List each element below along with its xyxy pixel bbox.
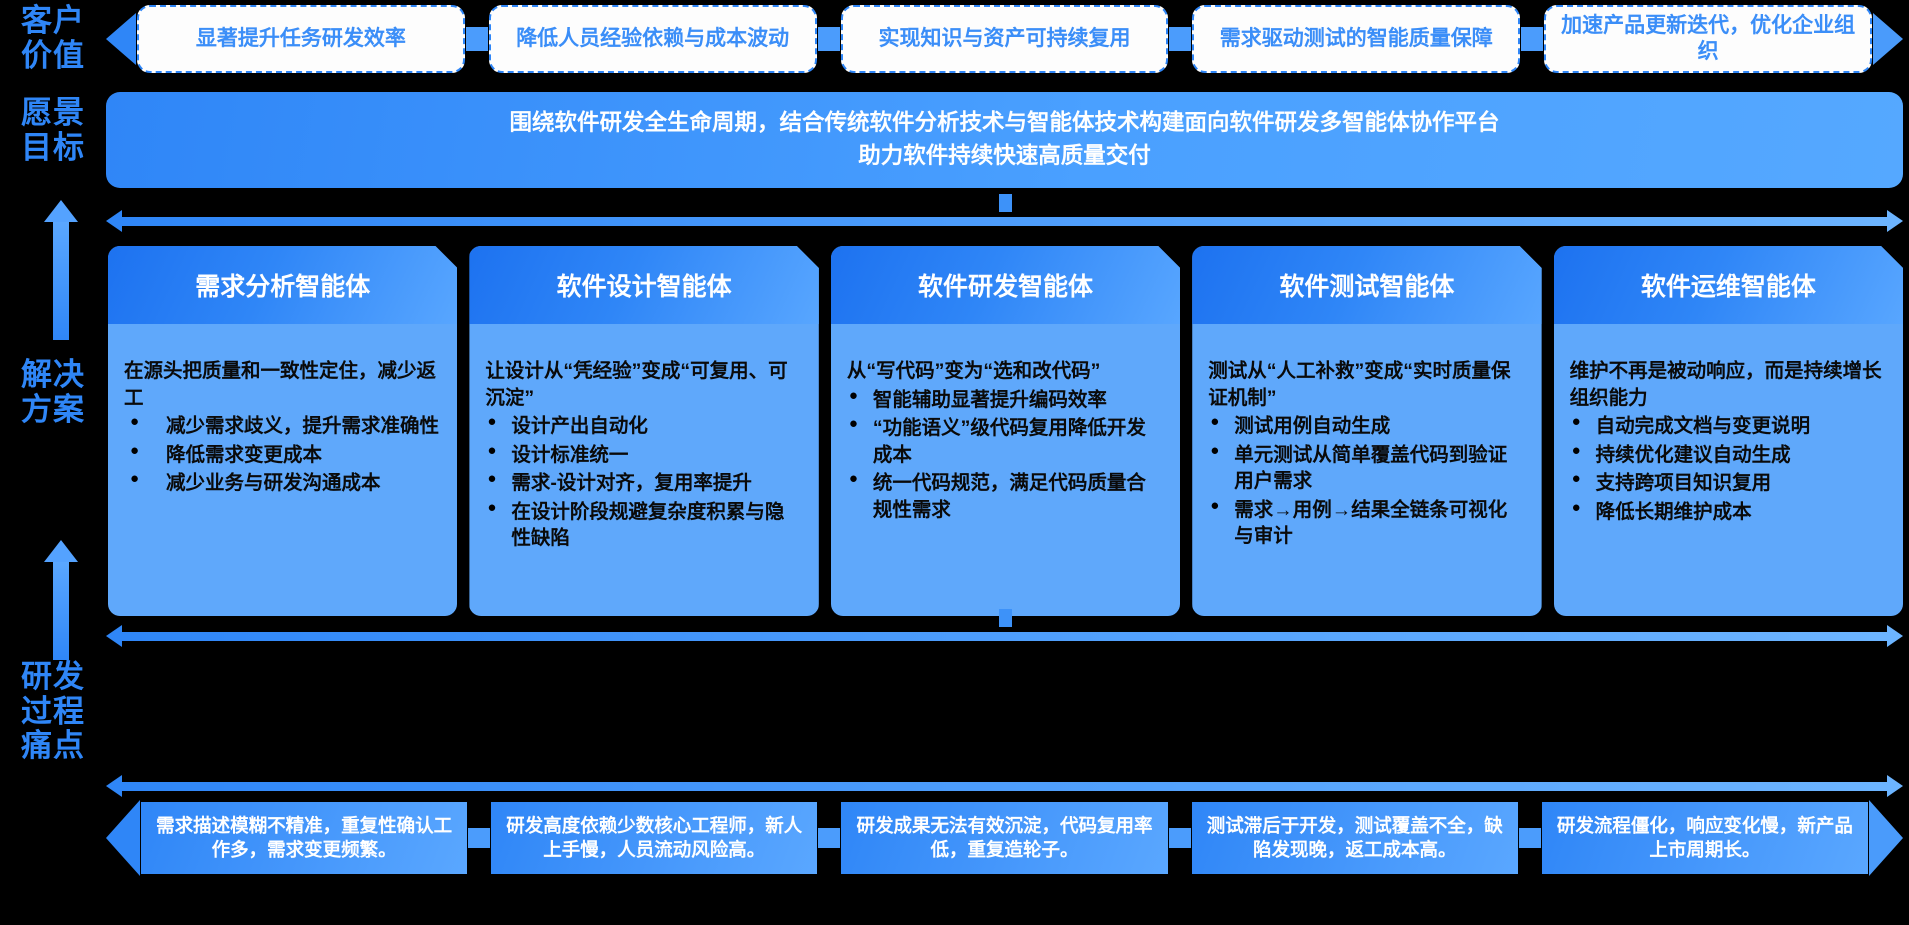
rail-label-pain-points: 研发过程痛点	[0, 660, 106, 764]
list-item: 智能辅助显著提升编码效率	[847, 387, 1164, 414]
list-item: 设计产出自动化	[485, 413, 802, 440]
diagram-canvas: 客户价值 愿景目标 解决方案 研发过程痛点 显著提升任务研发效率 降低人员经验依…	[0, 0, 1909, 925]
arrow-head-right-icon	[1887, 210, 1903, 232]
arrow-head-left-icon	[106, 775, 122, 797]
customer-value-box: 降低人员经验依赖与成本波动	[489, 5, 817, 73]
agent-card-body: 让设计从“凭经验”变成“可复用、可沉淀” 设计产出自动化 设计标准统一 需求-设…	[469, 324, 818, 616]
customer-value-box: 实现知识与资产可持续复用	[841, 5, 1169, 73]
arrow-head-icon	[44, 200, 78, 222]
agent-card-title: 软件设计智能体	[469, 246, 818, 324]
pain-point-box: 研发成果无法有效沉淀，代码复用率低，重复造轮子。	[841, 802, 1167, 874]
vertical-up-arrow-upper	[44, 200, 78, 340]
connector	[468, 828, 490, 848]
list-item: 测试用例自动生成	[1208, 413, 1525, 440]
arrow-stub-up	[999, 194, 1012, 212]
pain-points-row: 需求描述模糊不精准，重复性确认工作多，需求变更频繁。 研发高度依赖少数核心工程师…	[106, 800, 1903, 876]
arrow-head-right-icon	[1887, 775, 1903, 797]
agent-cards-row: 需求分析智能体 在源头把质量和一致性定住，减少返工 减少需求歧义，提升需求准确性…	[108, 246, 1903, 616]
arrow-head-icon	[44, 540, 78, 562]
connector	[818, 828, 840, 848]
left-arrow-icon	[106, 13, 136, 65]
arrow-head-right-icon	[1887, 625, 1903, 647]
arrow-head-left-icon	[106, 210, 122, 232]
pain-point-box: 研发流程僵化，响应变化慢，新产品上市周期长。	[1542, 802, 1868, 874]
agent-card-lead: 维护不再是被动响应，而是持续增长组织能力	[1570, 358, 1887, 411]
agent-card-bullets: 减少需求歧义，提升需求准确性 降低需求变更成本 减少业务与研发沟通成本	[124, 413, 441, 497]
arrow-stub-up	[999, 609, 1012, 627]
list-item: 减少需求歧义，提升需求准确性	[124, 413, 441, 440]
list-item: 设计标准统一	[485, 442, 802, 469]
list-item: 降低需求变更成本	[124, 442, 441, 469]
connector	[1169, 828, 1191, 848]
horizontal-arrow-above-cards	[106, 210, 1903, 232]
pain-point-box: 研发高度依赖少数核心工程师，新人上手慢，人员流动风险高。	[491, 802, 817, 874]
list-item: 需求→用例→结果全链条可视化与审计	[1208, 497, 1525, 550]
agent-card-title: 软件测试智能体	[1192, 246, 1541, 324]
pain-point-box: 测试滞后于开发，测试覆盖不全，缺陷发现晚，返工成本高。	[1192, 802, 1518, 874]
list-item: 自动完成文档与变更说明	[1570, 413, 1887, 440]
vertical-up-arrow-lower	[44, 540, 78, 660]
agent-card-body: 维护不再是被动响应，而是持续增长组织能力 自动完成文档与变更说明 持续优化建议自…	[1554, 324, 1903, 616]
right-arrow-icon	[1869, 800, 1903, 876]
agent-card-body: 在源头把质量和一致性定住，减少返工 减少需求歧义，提升需求准确性 降低需求变更成…	[108, 324, 457, 616]
customer-value-box: 显著提升任务研发效率	[137, 5, 465, 73]
list-item: 在设计阶段规避复杂度积累与隐性缺陷	[485, 499, 802, 552]
agent-card-operations[interactable]: 软件运维智能体 维护不再是被动响应，而是持续增长组织能力 自动完成文档与变更说明…	[1554, 246, 1903, 616]
agent-card-lead: 测试从“人工补救”变成“实时质量保证机制”	[1208, 358, 1525, 411]
arrow-head-left-icon	[106, 625, 122, 647]
agent-card-title: 软件运维智能体	[1554, 246, 1903, 324]
list-item: 减少业务与研发沟通成本	[124, 470, 441, 497]
agent-card-bullets: 自动完成文档与变更说明 持续优化建议自动生成 支持跨项目知识复用 降低长期维护成…	[1570, 413, 1887, 525]
list-item: 需求-设计对齐，复用率提升	[485, 470, 802, 497]
arrow-shaft	[53, 562, 69, 660]
customer-value-row: 显著提升任务研发效率 降低人员经验依赖与成本波动 实现知识与资产可持续复用 需求…	[106, 3, 1903, 75]
arrow-shaft	[53, 222, 69, 340]
connector	[818, 27, 840, 51]
agent-card-lead: 从“写代码”变为“选和改代码”	[847, 358, 1164, 385]
list-item: 统一代码规范，满足代码质量合规性需求	[847, 470, 1164, 523]
list-item: 持续优化建议自动生成	[1570, 442, 1887, 469]
agent-card-design[interactable]: 软件设计智能体 让设计从“凭经验”变成“可复用、可沉淀” 设计产出自动化 设计标…	[469, 246, 818, 616]
vision-line-1: 围绕软件研发全生命周期，结合传统软件分析技术与智能体技术构建面向软件研发多智能体…	[509, 107, 1499, 140]
connector	[1519, 828, 1541, 848]
agent-card-bullets: 测试用例自动生成 单元测试从简单覆盖代码到验证用户需求 需求→用例→结果全链条可…	[1208, 413, 1525, 550]
agent-card-title: 软件研发智能体	[831, 246, 1180, 324]
customer-value-box: 需求驱动测试的智能质量保障	[1192, 5, 1520, 73]
agent-card-lead: 让设计从“凭经验”变成“可复用、可沉淀”	[485, 358, 802, 411]
horizontal-arrow-below-cards	[106, 625, 1903, 647]
connector	[1521, 27, 1543, 51]
agent-card-body: 从“写代码”变为“选和改代码” 智能辅助显著提升编码效率 “功能语义”级代码复用…	[831, 324, 1180, 616]
agent-card-lead: 在源头把质量和一致性定住，减少返工	[124, 358, 441, 411]
horizontal-arrow-above-pain-points	[106, 775, 1903, 797]
customer-value-box: 加速产品更新迭代，优化企业组织	[1544, 5, 1872, 73]
list-item: 降低长期维护成本	[1570, 499, 1887, 526]
rail-label-solution: 解决方案	[0, 358, 106, 427]
agent-card-requirements[interactable]: 需求分析智能体 在源头把质量和一致性定住，减少返工 减少需求歧义，提升需求准确性…	[108, 246, 457, 616]
agent-card-title: 需求分析智能体	[108, 246, 457, 324]
rail-label-customer-value: 客户价值	[0, 4, 106, 73]
connector	[1169, 27, 1191, 51]
list-item: “功能语义”级代码复用降低开发成本	[847, 415, 1164, 468]
pain-point-box: 需求描述模糊不精准，重复性确认工作多，需求变更频繁。	[141, 802, 467, 874]
arrow-bar	[121, 632, 1888, 641]
rail-label-vision-goal: 愿景目标	[0, 96, 106, 165]
agent-card-development[interactable]: 软件研发智能体 从“写代码”变为“选和改代码” 智能辅助显著提升编码效率 “功能…	[831, 246, 1180, 616]
agent-card-testing[interactable]: 软件测试智能体 测试从“人工补救”变成“实时质量保证机制” 测试用例自动生成 单…	[1192, 246, 1541, 616]
agent-card-bullets: 设计产出自动化 设计标准统一 需求-设计对齐，复用率提升 在设计阶段规避复杂度积…	[485, 413, 802, 552]
list-item: 单元测试从简单覆盖代码到验证用户需求	[1208, 442, 1525, 495]
connector	[466, 27, 488, 51]
agent-card-bullets: 智能辅助显著提升编码效率 “功能语义”级代码复用降低开发成本 统一代码规范，满足…	[847, 387, 1164, 524]
agent-card-body: 测试从“人工补救”变成“实时质量保证机制” 测试用例自动生成 单元测试从简单覆盖…	[1192, 324, 1541, 616]
left-arrow-icon	[106, 800, 140, 876]
arrow-bar	[121, 217, 1888, 226]
arrow-bar	[121, 782, 1888, 791]
list-item: 支持跨项目知识复用	[1570, 470, 1887, 497]
vision-line-2: 助力软件持续快速高质量交付	[858, 140, 1151, 173]
vision-goal-banner: 围绕软件研发全生命周期，结合传统软件分析技术与智能体技术构建面向软件研发多智能体…	[106, 92, 1903, 188]
right-arrow-icon	[1873, 13, 1903, 65]
